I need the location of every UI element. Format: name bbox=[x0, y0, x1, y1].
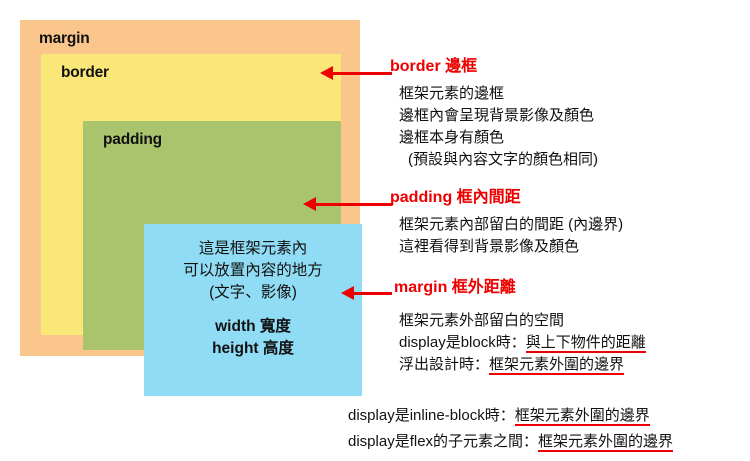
content-height-line: height 高度 bbox=[212, 338, 294, 360]
padding-annotation-heading: padding 框內間距 bbox=[390, 188, 623, 208]
margin-annotation-body: 框架元素外部留白的空間 display是block時：與上下物件的距離 浮出設計… bbox=[390, 310, 646, 376]
margin-line-2-emphasis: 與上下物件的距離 bbox=[526, 334, 646, 353]
border-annotation-group: border 邊框 框架元素的邊框 邊框內會呈現背景影像及顏色 邊框本身有顏色 … bbox=[390, 57, 598, 171]
border-annotation-line-2: 邊框內會呈現背景影像及顏色 bbox=[399, 105, 598, 127]
content-text-line-1: 這是框架元素內 bbox=[199, 238, 308, 260]
margin-line-3-emphasis: 框架元素外圍的邊界 bbox=[489, 356, 624, 375]
content-text-line-3: (文字、影像) bbox=[209, 282, 297, 304]
bottom-notes: display是inline-block時：框架元素外圍的邊界 display是… bbox=[348, 403, 748, 455]
border-annotation-line-4: (預設與內容文字的顏色相同) bbox=[408, 149, 598, 171]
margin-layer: margin border padding 這是框架元素內 可以放置內容的地方 … bbox=[20, 20, 360, 356]
content-layer: 這是框架元素內 可以放置內容的地方 (文字、影像) width 寬度 heigh… bbox=[144, 224, 362, 396]
padding-layer: padding 這是框架元素內 可以放置內容的地方 (文字、影像) width … bbox=[83, 121, 341, 350]
padding-annotation-group: padding 框內間距 框架元素內部留白的間距 (內邊界) 這裡看得到背景影像… bbox=[390, 188, 623, 258]
bottom-note-line-2: display是flex的子元素之間：框架元素外圍的邊界 bbox=[348, 429, 748, 455]
content-text-line-2: 可以放置內容的地方 bbox=[183, 260, 323, 282]
border-annotation-line-1: 框架元素的邊框 bbox=[399, 83, 598, 105]
annotation-column: border 邊框 框架元素的邊框 邊框內會呈現背景影像及顏色 邊框本身有顏色 … bbox=[390, 0, 750, 461]
padding-annotation-line-1: 框架元素內部留白的間距 (內邊界) bbox=[399, 214, 623, 236]
margin-annotation-line-3: 浮出設計時：框架元素外圍的邊界 bbox=[399, 354, 646, 376]
content-width-line: width 寬度 bbox=[215, 316, 291, 338]
box-model-diagram: margin border padding 這是框架元素內 可以放置內容的地方 … bbox=[20, 20, 360, 356]
border-layer: border padding 這是框架元素內 可以放置內容的地方 (文字、影像)… bbox=[41, 54, 341, 335]
padding-label: padding bbox=[103, 132, 162, 148]
margin-line-3-prefix: 浮出設計時： bbox=[399, 356, 489, 373]
margin-annotation-line-1: 框架元素外部留白的空間 bbox=[399, 310, 646, 332]
margin-annotation-line-2: display是block時：與上下物件的距離 bbox=[399, 332, 646, 354]
border-annotation-body: 框架元素的邊框 邊框內會呈現背景影像及顏色 邊框本身有顏色 (預設與內容文字的顏… bbox=[390, 83, 598, 171]
border-annotation-line-3: 邊框本身有顏色 bbox=[399, 127, 598, 149]
margin-annotation-group: margin 框外距離 框架元素外部留白的空間 display是block時：與… bbox=[390, 278, 646, 376]
bottom-line-1-prefix: display是inline-block時： bbox=[348, 407, 515, 424]
padding-annotation-line-2: 這裡看得到背景影像及顏色 bbox=[399, 236, 623, 258]
margin-annotation-heading: margin 框外距離 bbox=[394, 278, 646, 298]
border-label: border bbox=[61, 65, 109, 81]
bottom-line-1-emphasis: 框架元素外圍的邊界 bbox=[515, 407, 650, 426]
bottom-line-2-prefix: display是flex的子元素之間： bbox=[348, 433, 538, 450]
border-annotation-heading: border 邊框 bbox=[390, 57, 598, 77]
margin-label: margin bbox=[39, 31, 89, 47]
padding-annotation-body: 框架元素內部留白的間距 (內邊界) 這裡看得到背景影像及顏色 bbox=[390, 214, 623, 258]
bottom-line-2-emphasis: 框架元素外圍的邊界 bbox=[538, 433, 673, 452]
bottom-note-line-1: display是inline-block時：框架元素外圍的邊界 bbox=[348, 403, 748, 429]
margin-line-2-prefix: display是block時： bbox=[399, 334, 526, 351]
